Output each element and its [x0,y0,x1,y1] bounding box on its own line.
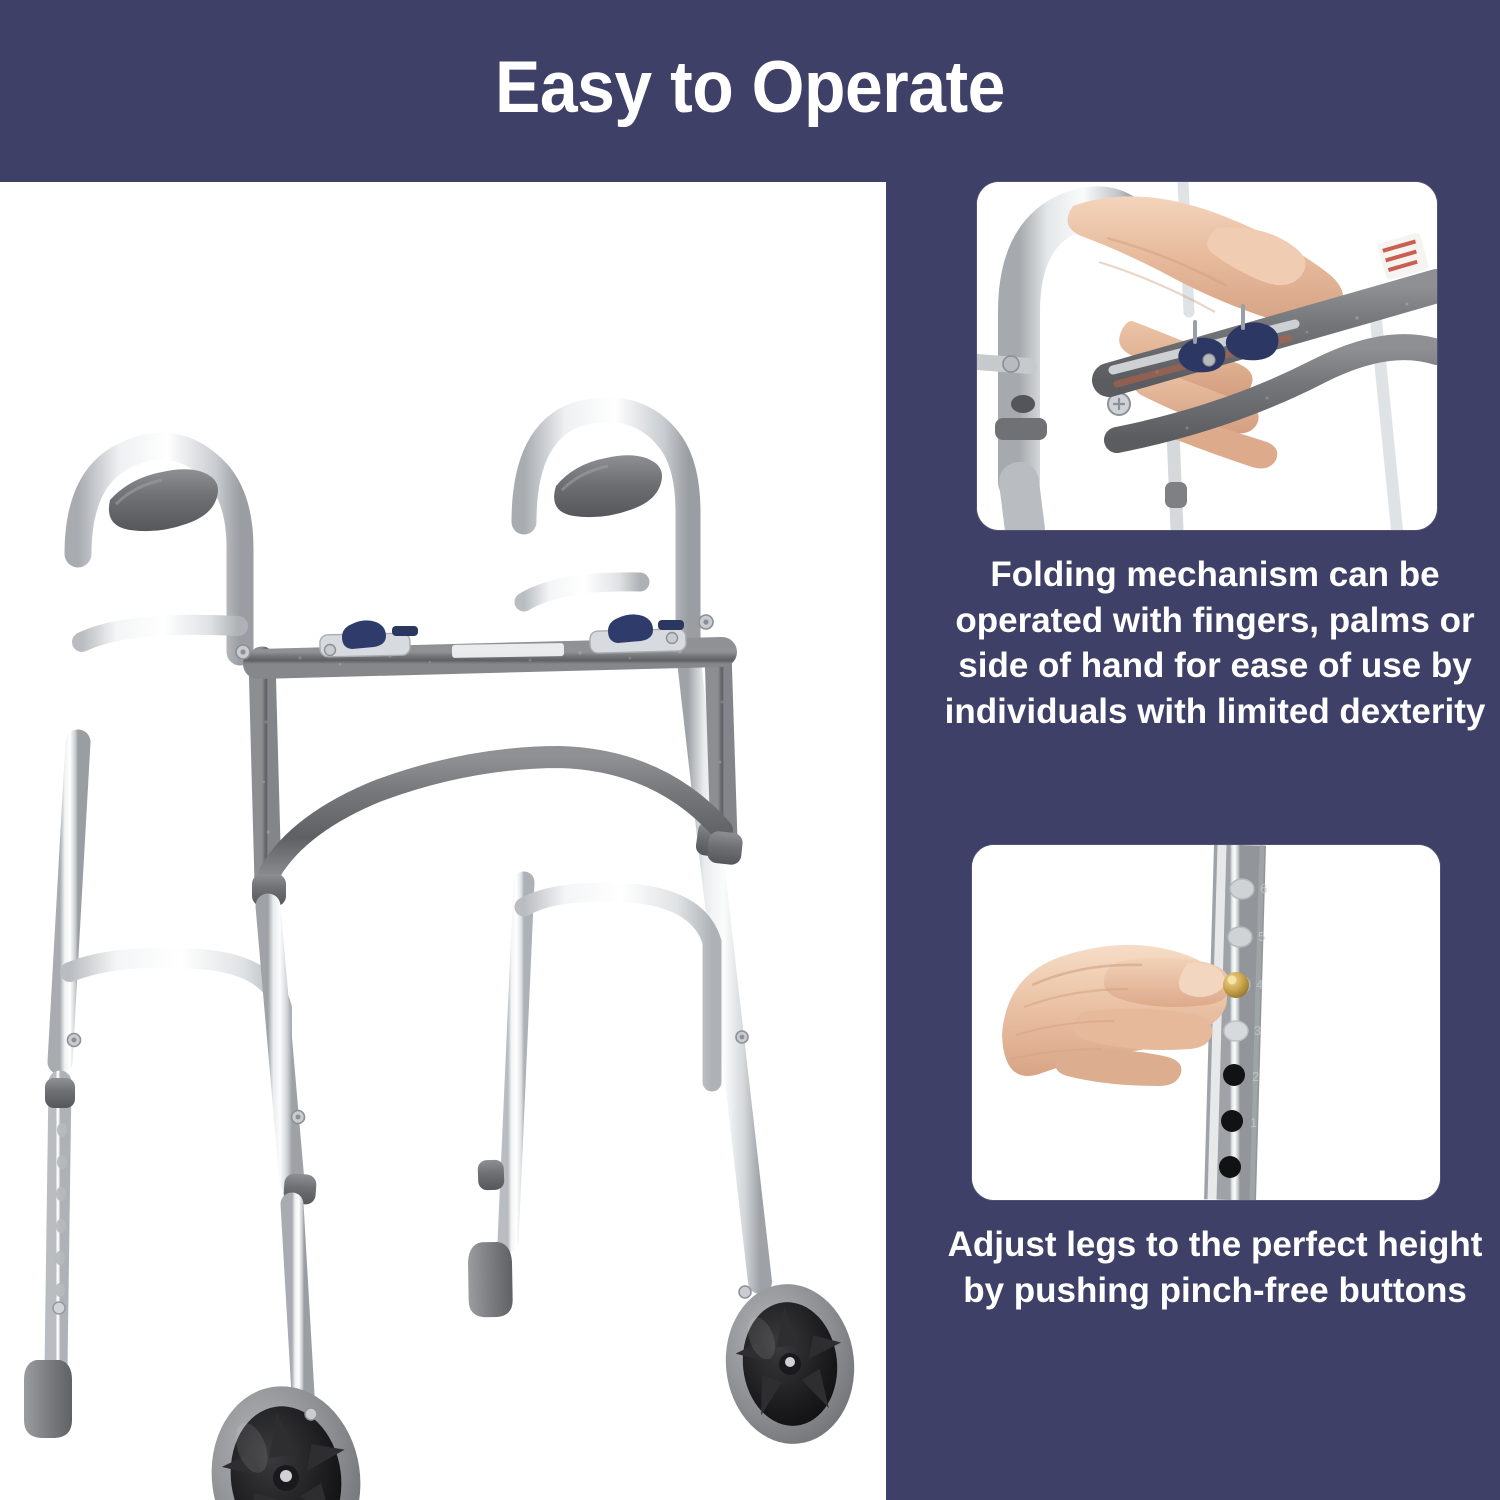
caption-folding-mechanism: Folding mechanism can be operated with f… [940,552,1490,734]
svg-text:5: 5 [1258,929,1265,944]
header-band: Easy to Operate [0,0,1500,182]
svg-text:6: 6 [1260,881,1267,896]
infographic-page: Easy to Operate [0,0,1500,1500]
svg-text:3: 3 [1254,1023,1261,1038]
svg-text:2: 2 [1252,1069,1259,1084]
folding-walker-product-photo [0,182,886,1500]
pinch-free-button [1223,972,1249,998]
svg-text:1: 1 [1250,1115,1257,1130]
pinch-free-button-photo: 65 43 21 [972,845,1440,1200]
svg-text:4: 4 [1256,977,1263,992]
caption-pinch-free-buttons: Adjust legs to the perfect height by pus… [940,1222,1490,1313]
page-title: Easy to Operate [53,46,1448,129]
folding-mechanism-photo [977,182,1437,530]
product-panel [0,182,886,1500]
